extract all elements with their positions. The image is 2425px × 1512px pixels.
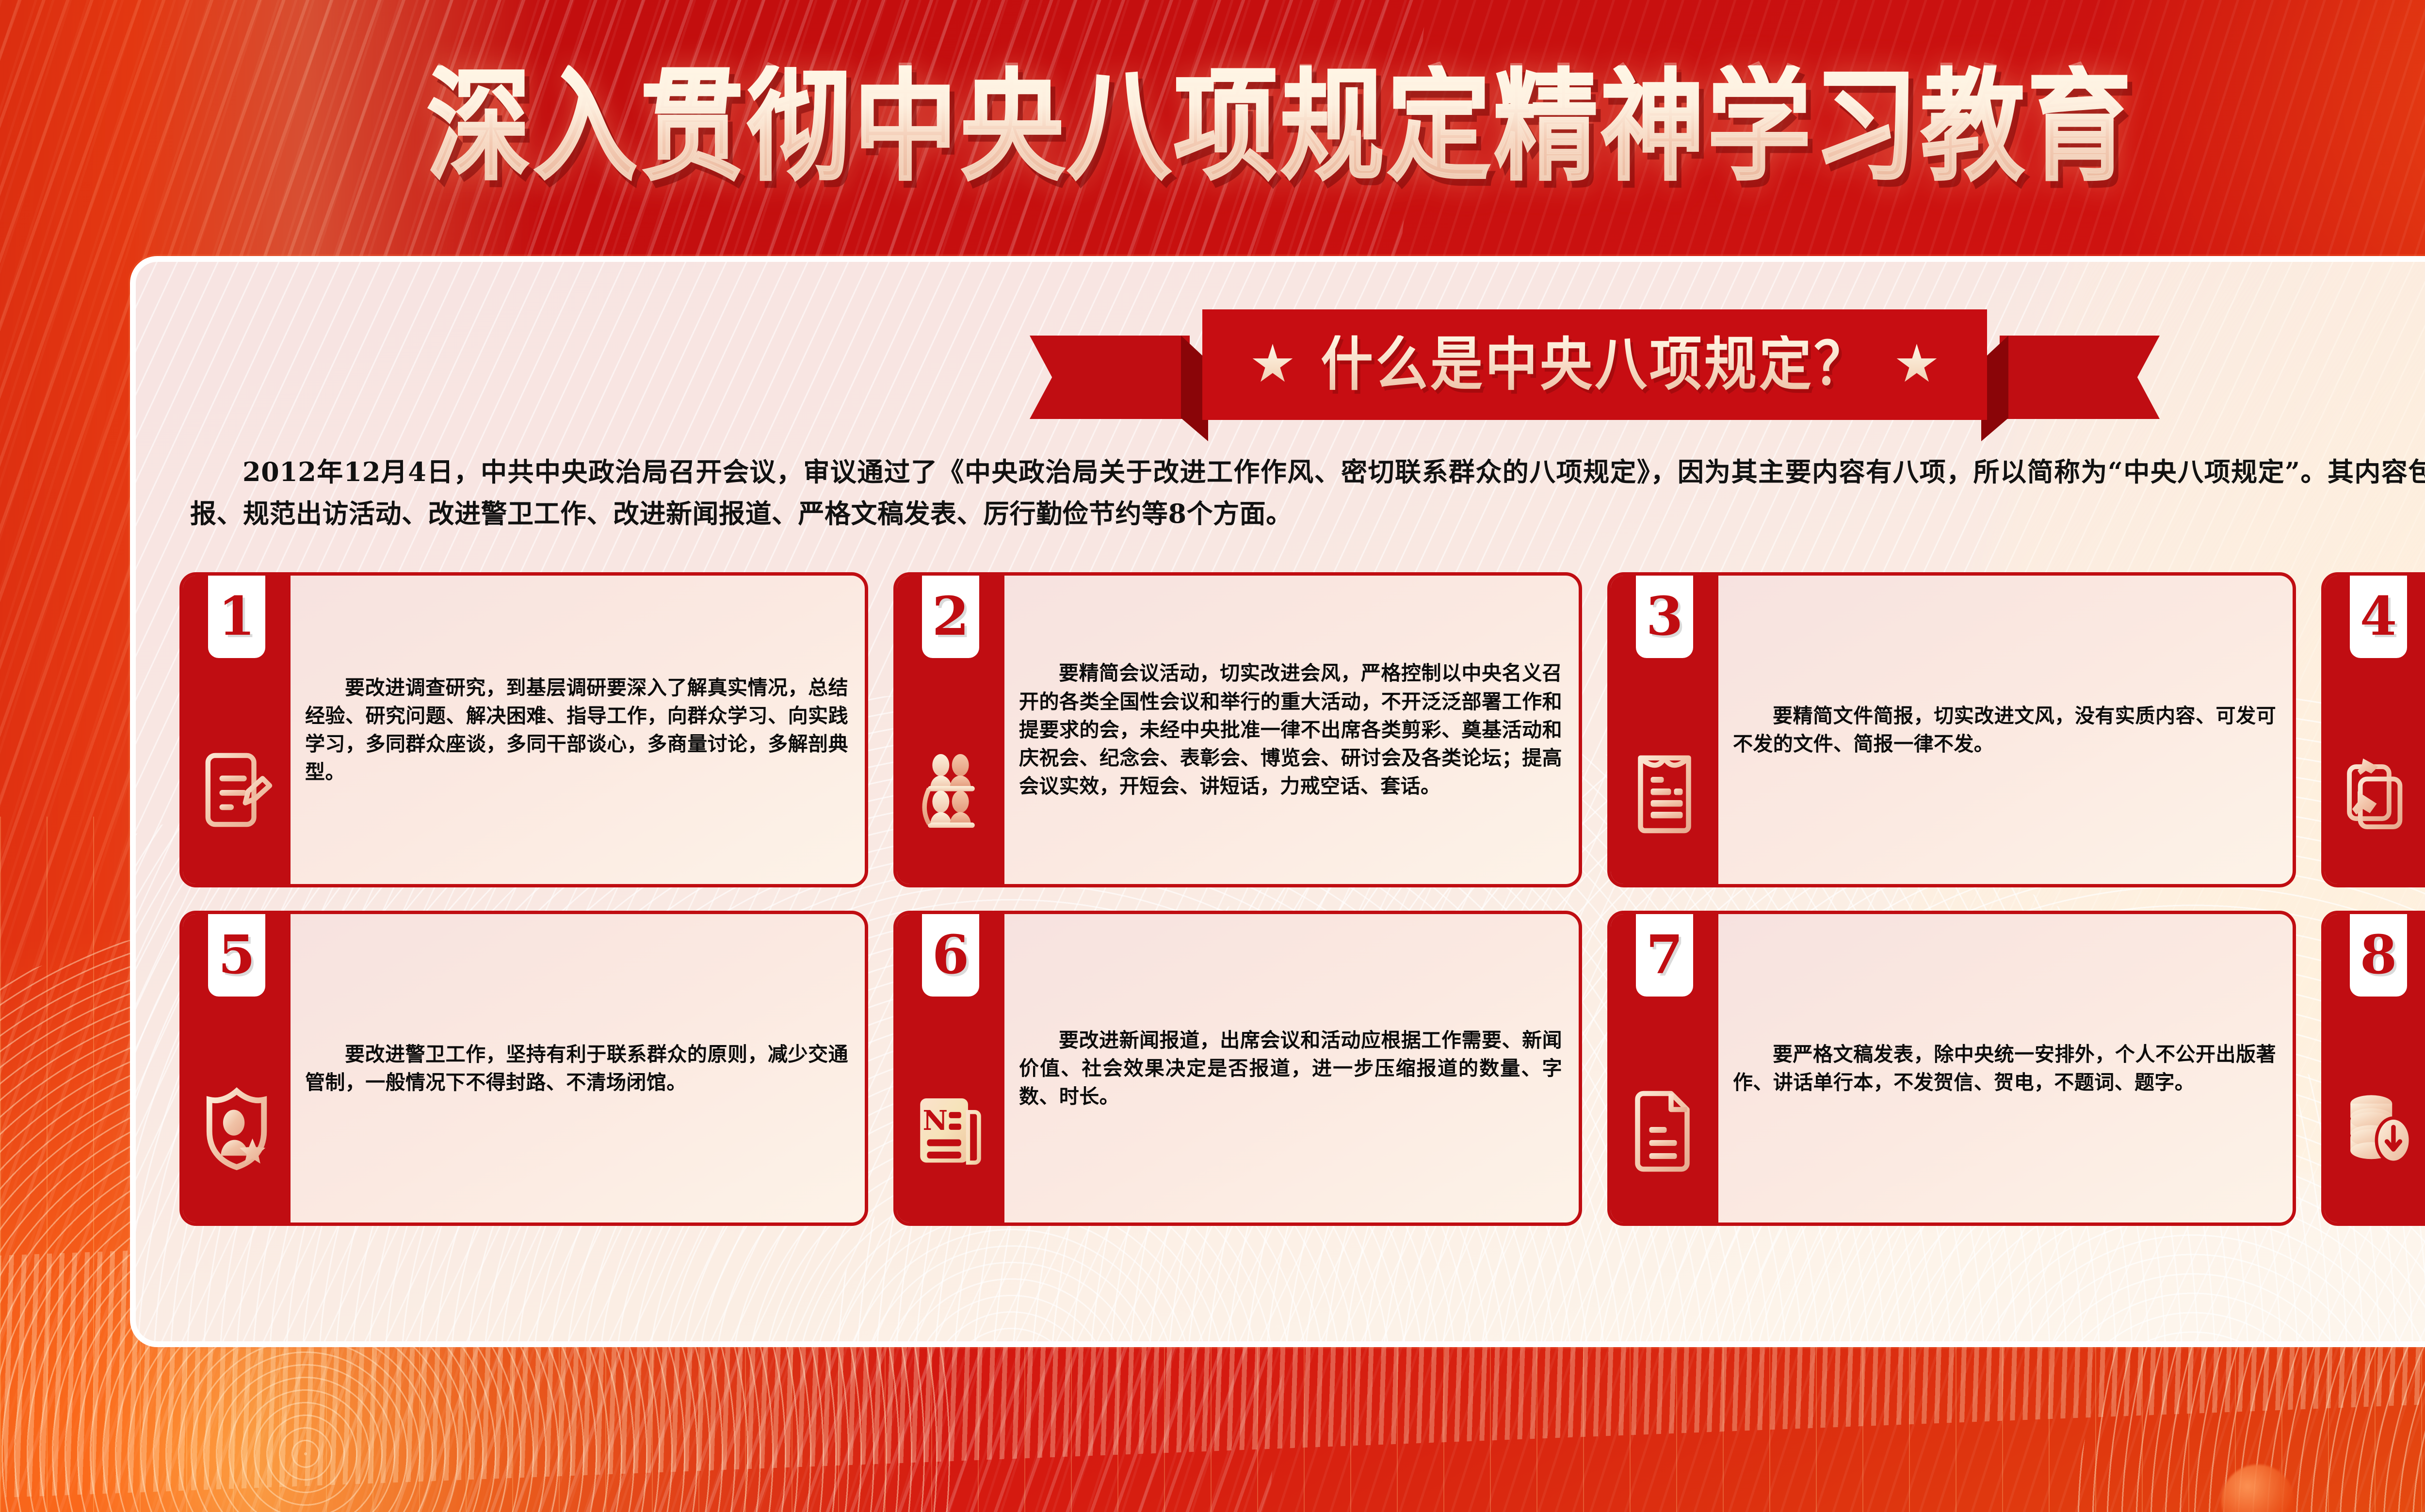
coins-down-icon	[2343, 1085, 2414, 1172]
regulation-card-5[interactable]: 5 要改进警	[179, 911, 868, 1226]
card-2-text: 要精简会议活动，切实改进会风，严格控制以中央名义召开的各类全国性会议和举行的重大…	[1019, 659, 1562, 800]
card-8-number-chip: 8	[2350, 913, 2407, 997]
card-7-number-chip: 7	[1636, 913, 1693, 997]
paper-file-icon	[1629, 1085, 1700, 1172]
card-6-body: 要改进新闻报道，出席会议和活动应根据工作需要、新闻价值、社会效果决定是否报道，进…	[1004, 914, 1579, 1222]
card-6-text: 要改进新闻报道，出席会议和活动应根据工作需要、新闻价值、社会效果决定是否报道，进…	[1019, 1026, 1562, 1111]
ribbon-center: 什么是中央八项规定？	[1202, 309, 1987, 420]
card-5-text: 要改进警卫工作，坚持有利于联系群众的原则，减少交通管制，一般情况下不得封路、不清…	[305, 1040, 848, 1096]
decorative-blob	[2221, 1464, 2294, 1512]
main-title-text: 深入贯彻中央八项规定精神学习教育	[427, 65, 2134, 188]
card-3-number: 3	[1646, 590, 1683, 643]
page-title: 深入贯彻中央八项规定精神学习教育	[427, 71, 2221, 182]
ribbon-title: 什么是中央八项规定？	[1321, 336, 1869, 394]
card-6-left-rail: 6 N	[897, 914, 1004, 1222]
clipboard-pencil-icon	[201, 746, 273, 834]
regulation-card-2[interactable]: 2	[893, 572, 1582, 887]
card-2-number: 2	[932, 590, 970, 643]
content-panel: 什么是中央八项规定？ 2012年12月4日，中共中央政治局召开会议，审议通过了《…	[130, 256, 2425, 1347]
regulation-card-6[interactable]: 6 N	[893, 911, 1582, 1226]
svg-text:N: N	[923, 1105, 948, 1137]
card-1-number-chip: 1	[208, 575, 265, 658]
card-3-text: 要精简文件简报，切实改进文风，没有实质内容、可发可不发的文件、简报一律不发。	[1733, 702, 2276, 758]
card-1-number: 1	[218, 590, 256, 643]
card-2-left-rail: 2	[897, 576, 1004, 884]
section-ribbon: 什么是中央八项规定？	[1030, 303, 2160, 424]
card-1-body: 要改进调查研究，到基层调研要深入了解真实情况，总结经验、研究问题、解决困难、指导…	[291, 576, 865, 884]
card-8-number: 8	[2360, 928, 2397, 981]
card-8-left-rail: 8	[2325, 914, 2425, 1222]
regulation-card-4[interactable]: 4 要规范出	[2321, 572, 2425, 887]
card-1-left-rail: 1	[183, 576, 291, 884]
card-2-body: 要精简会议活动，切实改进会风，严格控制以中央名义召开的各类全国性会议和举行的重大…	[1004, 576, 1579, 884]
card-4-number: 4	[2360, 590, 2397, 643]
card-4-number-chip: 4	[2350, 575, 2407, 658]
newspaper-icon: N	[915, 1085, 986, 1172]
card-2-number-chip: 2	[922, 575, 979, 658]
card-7-left-rail: 7	[1611, 914, 1718, 1222]
regulation-card-7[interactable]: 7	[1607, 911, 2296, 1226]
card-3-number-chip: 3	[1636, 575, 1693, 658]
card-7-text: 要严格文稿发表，除中央统一安排外，个人不公开出版著作、讲话单行本，不发贺信、贺电…	[1733, 1040, 2276, 1096]
star-icon-right	[1896, 344, 1938, 386]
document-lines-icon	[1629, 746, 1700, 834]
poster-root: 深入贯彻中央八项规定精神学习教育 1958 安徽建筑大学 ANHUI JIANZ…	[0, 0, 2425, 1512]
card-5-number: 5	[218, 928, 256, 981]
card-3-body: 要精简文件简报，切实改进文风，没有实质内容、可发可不发的文件、简报一律不发。	[1718, 576, 2293, 884]
card-1-text: 要改进调查研究，到基层调研要深入了解真实情况，总结经验、研究问题、解决困难、指导…	[305, 674, 848, 787]
card-3-left-rail: 3	[1611, 576, 1718, 884]
regulations-grid: 1	[179, 572, 2425, 1226]
regulation-card-3[interactable]: 3	[1607, 572, 2296, 887]
card-6-number-chip: 6	[922, 913, 979, 997]
card-4-left-rail: 4	[2325, 576, 2425, 884]
airplane-document-icon	[2343, 746, 2414, 834]
people-group-icon	[915, 746, 986, 834]
ribbon-tail-right	[2000, 336, 2160, 419]
poster-header: 深入贯彻中央八项规定精神学习教育 1958 安徽建筑大学 ANHUI JIANZ…	[0, 0, 2425, 242]
card-5-number-chip: 5	[208, 913, 265, 997]
card-6-number: 6	[932, 928, 970, 981]
shield-guard-icon	[201, 1085, 273, 1172]
ribbon-tail-left	[1030, 336, 1190, 419]
regulation-card-8[interactable]: 8	[2321, 911, 2425, 1226]
card-7-number: 7	[1646, 928, 1683, 981]
card-5-left-rail: 5	[183, 914, 291, 1222]
card-5-body: 要改进警卫工作，坚持有利于联系群众的原则，减少交通管制，一般情况下不得封路、不清…	[291, 914, 865, 1222]
star-icon-left	[1252, 344, 1293, 386]
card-7-body: 要严格文稿发表，除中央统一安排外，个人不公开出版著作、讲话单行本，不发贺信、贺电…	[1718, 914, 2293, 1222]
intro-paragraph: 2012年12月4日，中共中央政治局召开会议，审议通过了《中央政治局关于改进工作…	[190, 451, 2425, 535]
regulation-card-1[interactable]: 1	[179, 572, 868, 887]
